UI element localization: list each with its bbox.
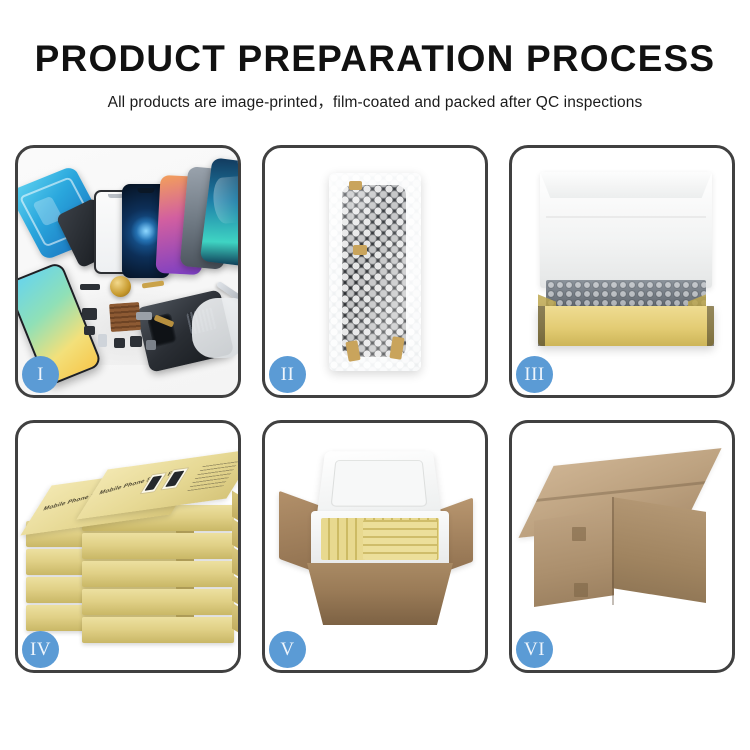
small-component-icon [114,338,125,348]
stacked-box [82,589,234,615]
small-component-icon [82,308,97,320]
tape-icon [572,527,586,541]
styrofoam-tray-icon [311,511,449,569]
step-badge-1: I [22,356,59,393]
small-component-icon [84,326,95,335]
step-badge-5: V [269,631,306,668]
step-badge-6: VI [516,631,553,668]
stacked-box [82,533,234,559]
plastic-sheen [329,173,421,371]
yellow-boxes-row [363,520,437,560]
header: PRODUCT PREPARATION PROCESS All products… [0,0,750,112]
carton-right-face [612,497,706,603]
step-4-illustration: Mobile Phone Spare Parts Mobile Phone Sp… [18,423,238,670]
carton-corner-seam [612,497,614,605]
step-2-illustration [265,148,485,395]
carton-body-icon [307,563,453,625]
small-component-icon [130,336,142,347]
stacked-box [82,617,234,643]
step-5-illustration [265,423,485,670]
step-panel-1[interactable]: I [15,145,241,398]
page-subtitle: All products are image-printed，film-coat… [0,90,750,112]
small-component-icon [136,312,152,320]
page-title: PRODUCT PREPARATION PROCESS [0,40,750,79]
step-panel-5[interactable]: V [262,420,488,673]
bubble-wrap-package-icon [329,173,421,371]
stacked-box [82,561,234,587]
step-badge-3: III [516,356,553,393]
box-window-icon [160,467,189,490]
product-preparation-infographic: PRODUCT PREPARATION PROCESS All products… [0,0,750,750]
step-3-illustration [512,148,732,395]
step-6-illustration [512,423,732,670]
step-badge-4: IV [22,631,59,668]
box-spec-lines [187,460,238,491]
process-steps-grid: I II [15,145,735,673]
step-1-illustration [18,148,238,395]
step-panel-2[interactable]: II [262,145,488,398]
step-panel-3[interactable]: III [509,145,735,398]
step-badge-2: II [269,356,306,393]
small-component-icon [80,284,100,290]
copper-coil-icon [110,276,131,297]
small-component-icon [98,334,107,347]
styrofoam-lid-icon [316,451,442,520]
step-panel-4[interactable]: Mobile Phone Spare Parts Mobile Phone Sp… [15,420,241,673]
step-panel-6[interactable]: VI [509,420,735,673]
foam-lid-icon [540,172,712,288]
small-component-icon [146,340,156,350]
tape-icon [574,583,588,597]
yellow-box-base-icon [538,306,714,346]
tape-icon [349,181,362,190]
hand-icon [192,298,238,358]
tape-icon [353,245,367,255]
box-stack: Mobile Phone Spare Parts Mobile Phone Sp… [22,447,238,633]
